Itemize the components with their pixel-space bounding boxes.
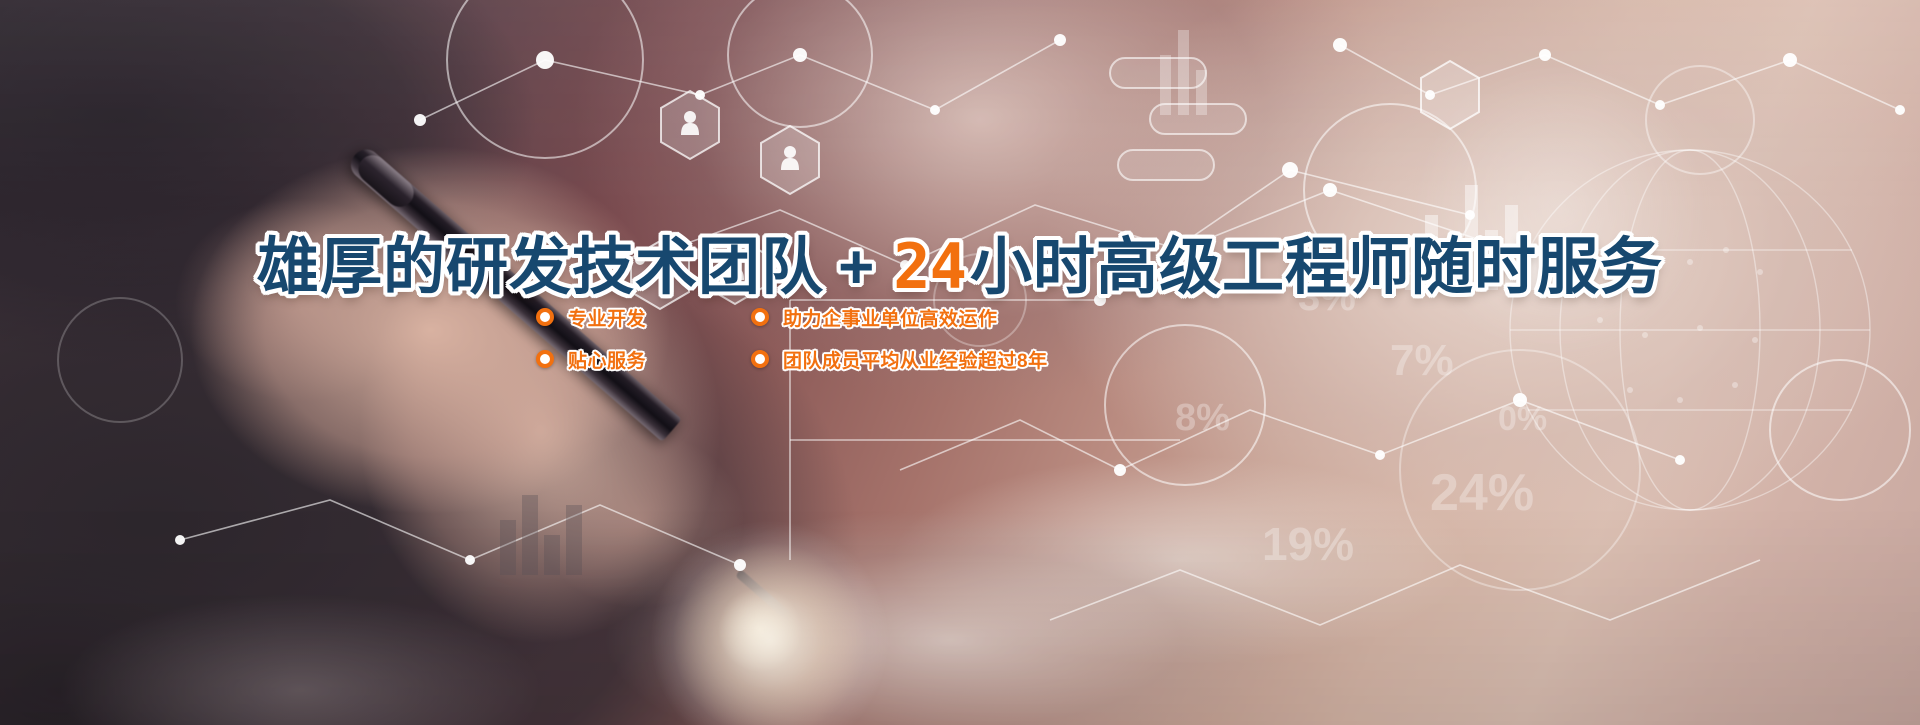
headline-part-1: 雄厚的研发技术团队: [257, 233, 824, 302]
headline-number-24: 24: [889, 230, 970, 303]
page-title: 雄厚的研发技术团队+24小时高级工程师随时服务: [0, 236, 1920, 299]
circle-bullet-icon: [751, 308, 769, 326]
feature-label: 助力企事业单位高效运作: [783, 304, 998, 331]
headline-plus-sign: +: [824, 233, 889, 302]
feature-label: 团队成员平均从业经验超过8年: [783, 346, 1048, 373]
hero-banner: 3% 7% 24% 19% 8% 0% 雄厚的研发技术团队+24小时高级工程师随…: [0, 0, 1920, 725]
feature-item-1: 助力企事业单位高效运作: [751, 304, 1296, 331]
banner-content: 雄厚的研发技术团队+24小时高级工程师随时服务 专业开发 助力企事业单位高效运作…: [0, 0, 1920, 725]
circle-bullet-icon: [536, 350, 554, 368]
feature-list: 专业开发 助力企事业单位高效运作 贴心服务 团队成员平均从业经验超过8年: [536, 296, 1296, 380]
feature-item-2: 贴心服务: [536, 346, 751, 373]
feature-item-0: 专业开发: [536, 304, 751, 331]
circle-bullet-icon: [751, 350, 769, 368]
feature-label: 专业开发: [568, 304, 646, 331]
circle-bullet-icon: [536, 308, 554, 326]
feature-item-3: 团队成员平均从业经验超过8年: [751, 346, 1296, 373]
headline-part-2: 小时高级工程师随时服务: [970, 233, 1663, 302]
feature-label: 贴心服务: [568, 346, 646, 373]
